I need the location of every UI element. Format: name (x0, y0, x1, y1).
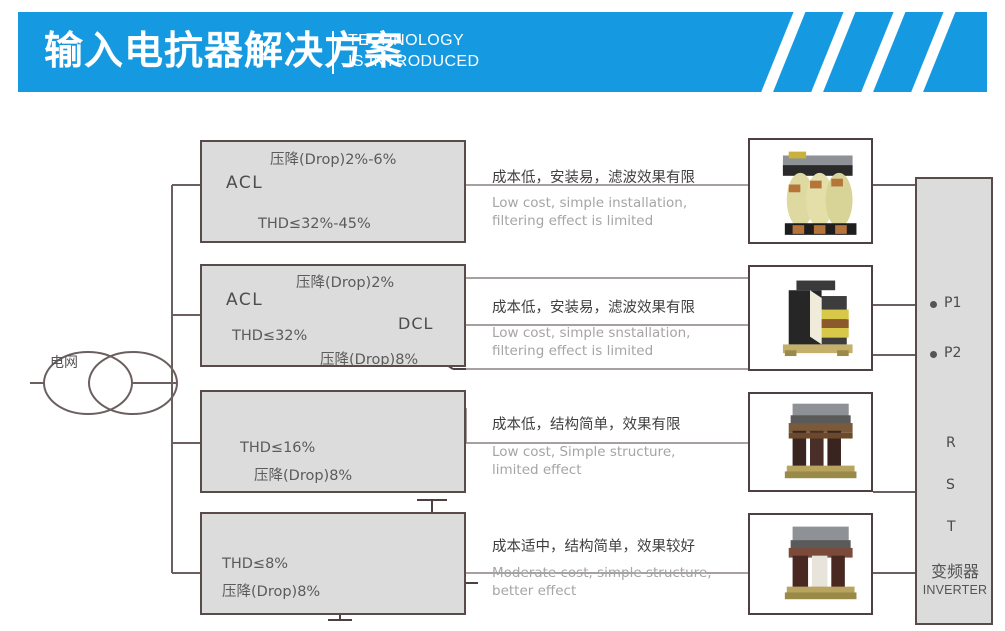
desc2-en-line1: Low cost, simple snstallation, (492, 324, 690, 342)
terminal-label-s: S (946, 477, 955, 493)
grid-source-label: 电网 (50, 352, 78, 372)
circuit-diagram: 电网 压降(Drop)2%-6% ACL THD≤32%-45% 压降(Drop… (0, 0, 1005, 631)
inverter-name-en: INVERTER (915, 583, 995, 597)
desc4-en-line1: Moderate cost, simple structure, (492, 564, 712, 582)
block4-drop-label: 压降(Drop)8% (222, 580, 320, 601)
ac-reactor-image (750, 140, 871, 243)
circuit-block-acl-dcl[interactable]: 压降(Drop)2% ACL DCL THD≤32% 压降(Drop)8% (200, 264, 466, 367)
block2-acl-label: ACL (226, 290, 263, 310)
desc1-en-line1: Low cost, simple installation, (492, 194, 687, 212)
desc3-cn: 成本低，结构简单，效果有限 (492, 413, 681, 434)
terminal-label-p1: P1 (944, 295, 961, 311)
product-photo-3[interactable] (748, 392, 873, 492)
desc2-en-line2: filtering effect is limited (492, 342, 653, 360)
three-phase-reactor-image-1 (750, 394, 871, 491)
desc1-en-line2: filtering effect is limited (492, 212, 653, 230)
product-photo-4[interactable] (748, 513, 873, 615)
desc4-en-line2: better effect (492, 582, 576, 600)
photo-to-inverter-wires (873, 185, 915, 573)
product-photo-1[interactable] (748, 138, 873, 244)
block2-drop-label: 压降(Drop)2% (296, 271, 394, 292)
block2-dcl-label: DCL (398, 314, 433, 333)
desc4-cn: 成本适中，结构简单，效果较好 (492, 535, 695, 556)
desc3-en-line2: limited effect (492, 461, 582, 479)
block2-thd-label: THD≤32% (232, 328, 307, 344)
block1-drop-label: 压降(Drop)2%-6% (270, 148, 396, 169)
product-photo-2[interactable] (748, 265, 873, 371)
desc1-cn: 成本低，安装易，滤波效果有限 (492, 166, 695, 187)
terminal-dot-p2 (930, 351, 937, 358)
terminal-label-t: T (947, 519, 956, 535)
three-phase-reactor-image-2 (750, 515, 871, 614)
block2-dcl-drop-label: 压降(Drop)8% (320, 348, 418, 369)
terminal-label-r: R (946, 435, 956, 451)
block3-drop-label: 压降(Drop)8% (254, 464, 352, 485)
desc3-en-line1: Low cost, Simple structure, (492, 443, 675, 461)
desc2-cn: 成本低，安装易，滤波效果有限 (492, 296, 695, 317)
terminal-dot-p1 (930, 301, 937, 308)
dc-reactor-image (750, 267, 871, 370)
terminal-label-p2: P2 (944, 345, 961, 361)
block4-thd-label: THD≤8% (222, 556, 288, 572)
block3-thd-label: THD≤16% (240, 440, 315, 456)
circuit-block-lc[interactable]: THD≤16% 压降(Drop)8% (200, 390, 466, 493)
block1-acl-label: ACL (226, 173, 263, 193)
inverter-name-cn: 变频器 (919, 558, 991, 582)
circuit-block-acl[interactable]: 压降(Drop)2%-6% ACL THD≤32%-45% (200, 140, 466, 243)
block1-thd-label: THD≤32%-45% (258, 216, 371, 232)
circuit-block-lcl[interactable]: THD≤8% 压降(Drop)8% (200, 512, 466, 615)
